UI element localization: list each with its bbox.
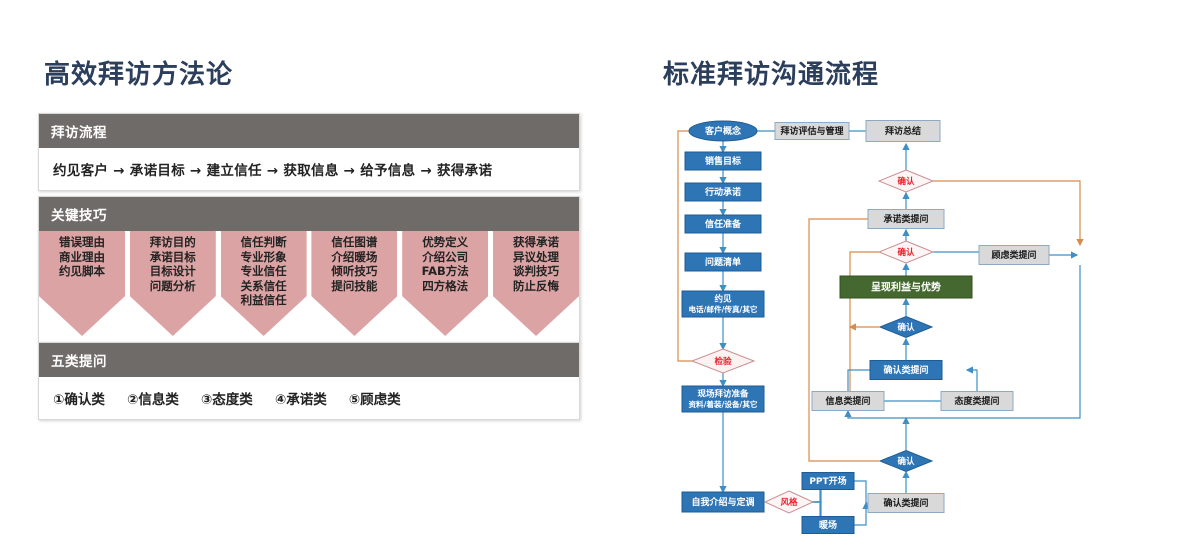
flow-edge [854,503,866,525]
flow-node-sublabel: 资料/着装/设备/其它 [688,399,757,409]
flow-node-label: PPT开场 [809,475,846,487]
key-skill-chevron: 错误理由商业理由约见脚本 [39,231,125,336]
flow-node[interactable]: 确认类提问 [868,494,944,513]
question-type-item: ④承诺类 [275,388,327,408]
key-skill-line: 四方格法 [422,279,468,294]
flow-node[interactable]: 问题清单 [685,253,761,271]
key-skill-chevron: 信任判断专业形象专业信任关系信任利益信任 [221,231,307,336]
key-skills-chevron-row: 错误理由商业理由约见脚本拜访目的承诺目标目标设计问题分析信任判断专业形象专业信任… [39,231,579,341]
visit-process-steps: 约见客户 → 承诺目标 → 建立信任 → 获取信息 → 给予信息 → 获得承诺 [39,148,579,190]
flow-node[interactable]: PPT开场 [802,473,854,490]
methodology-panel: 高效拜访方法论 拜访流程 约见客户 → 承诺目标 → 建立信任 → 获取信息 →… [0,0,620,547]
card-header-key-skills: 关键技巧 [39,197,579,231]
key-skill-line: 商业理由 [59,250,105,265]
flow-node[interactable]: 确认 [880,451,932,472]
question-type-item: ①确认类 [53,388,105,408]
key-skill-line: 专业信任 [241,264,287,279]
flow-node[interactable]: 风格 [765,491,813,513]
flow-node[interactable]: 确认 [879,170,933,192]
key-skill-line: 专业形象 [241,250,287,265]
flow-node-label: 自我介绍与定调 [691,496,754,508]
flow-node[interactable]: 信息类提问 [812,392,884,411]
key-skill-chevron: 拜访目的承诺目标目标设计问题分析 [130,231,216,336]
flow-node-label: 检验 [714,356,732,367]
chevron-separator [216,231,221,341]
card-key-skills: 关键技巧 错误理由商业理由约见脚本拜访目的承诺目标目标设计问题分析信任判断专业形… [38,196,580,343]
flow-node-label: 信任准备 [705,218,742,230]
flow-node-label: 确认 [897,247,915,258]
flow-node-label: 现场拜访准备 [697,389,749,400]
key-skill-line: 谈判技巧 [513,264,559,279]
flow-node-label: 销售目标 [705,155,741,167]
key-skill-line: 利益信任 [241,293,287,308]
flow-node[interactable]: 客户概念 [689,121,757,141]
flow-node[interactable]: 约见电话/邮件/传真/其它 [682,291,764,317]
flow-node-label: 确认 [897,322,915,333]
flow-node-label: 行动承诺 [704,186,741,198]
key-skill-line: 约见脚本 [59,264,105,279]
flow-node-label: 拜访总结 [885,125,921,137]
chevron-separator [488,231,493,341]
five-question-list: ①确认类②信息类③态度类④承诺类⑤顾虑类 [53,388,565,408]
flowchart-panel: 标准拜访沟通流程 客户概念拜访评估与管理拜访总结销售目标行动承诺信任准备问题清单… [620,0,1200,547]
flow-node-label: 顾虑类提问 [991,249,1036,261]
flow-node[interactable]: 承诺类提问 [868,210,944,229]
flow-node-label: 问题清单 [705,256,741,268]
flow-node-label: 暖场 [819,519,837,531]
chevron-separator [307,231,312,341]
chevron-separator [125,231,130,341]
flow-node[interactable]: 销售目标 [685,152,761,170]
key-skill-line: 错误理由 [59,235,105,250]
key-skill-line: 问题分析 [150,279,196,294]
flow-node[interactable]: 确认类提问 [870,361,942,380]
key-skill-line: 异议处理 [513,250,559,265]
key-skill-line: 目标设计 [150,264,196,279]
flow-node-label: 拜访评估与管理 [780,125,843,137]
card-header-visit-process: 拜访流程 [39,114,579,148]
flow-node-label: 约见 [714,294,732,305]
key-skill-line: 介绍暖场 [331,250,377,265]
flow-node[interactable]: 拜访评估与管理 [775,123,849,140]
key-skill-line: 优势定义 [422,235,468,250]
key-skill-line: 承诺目标 [150,250,196,265]
flow-node[interactable]: 现场拜访准备资料/着装/设备/其它 [682,386,764,412]
flow-node-label: 信息类提问 [825,395,870,407]
flow-node[interactable]: 呈现利益与优势 [840,276,972,298]
key-skill-line: 信任图谱 [331,235,377,250]
key-skill-line: 关系信任 [241,279,287,294]
visit-communication-flowchart: 客户概念拜访评估与管理拜访总结销售目标行动承诺信任准备问题清单约见电话/邮件/传… [620,0,1200,547]
card-five-questions: 五类提问 ①确认类②信息类③态度类④承诺类⑤顾虑类 [38,342,580,420]
flow-node-label: 呈现利益与优势 [871,281,941,294]
flow-node-label: 确认类提问 [883,364,928,376]
key-skill-line: 拜访目的 [150,235,196,250]
flow-node[interactable]: 信任准备 [685,215,761,233]
key-skill-line: 介绍公司 [422,250,468,265]
key-skill-chevron: 优势定义介绍公司FAB方法四方格法 [402,231,488,336]
flow-node-label: 承诺类提问 [883,213,928,225]
flow-node[interactable]: 拜访总结 [866,121,940,142]
flow-node-label: 风格 [780,497,798,508]
question-type-item: ②信息类 [127,388,179,408]
flow-edge [809,219,882,461]
key-skill-line: FAB方法 [422,264,469,279]
flow-edge [933,181,1080,245]
flow-node[interactable]: 暖场 [802,517,854,534]
flow-node-label: 确认 [897,456,915,467]
flow-edge [967,370,977,391]
flow-node[interactable]: 自我介绍与定调 [682,492,764,512]
flow-node-label: 确认类提问 [883,497,928,509]
card-header-five-questions: 五类提问 [39,343,579,377]
question-type-item: ③态度类 [201,388,253,408]
key-skill-line: 倾听技巧 [331,264,377,279]
key-skill-line: 获得承诺 [513,235,559,250]
key-skill-line: 防止反悔 [513,279,559,294]
flow-node-label: 确认 [897,176,915,187]
flow-node-label: 客户概念 [704,125,741,137]
key-skill-line: 提问技能 [331,279,377,294]
question-type-item: ⑤顾虑类 [349,388,401,408]
flow-node[interactable]: 确认 [879,241,933,263]
flow-node[interactable]: 顾虑类提问 [979,246,1049,265]
key-skill-chevron: 信任图谱介绍暖场倾听技巧提问技能 [311,231,397,336]
key-skill-line: 信任判断 [241,235,287,250]
flow-node[interactable]: 检验 [692,349,754,373]
flow-node[interactable]: 态度类提问 [941,392,1013,411]
flow-node[interactable]: 确认 [880,317,932,338]
flow-node-label: 态度类提问 [954,395,999,407]
card-visit-process: 拜访流程 约见客户 → 承诺目标 → 建立信任 → 获取信息 → 给予信息 → … [38,113,580,191]
flow-node-sublabel: 电话/邮件/传真/其它 [688,304,757,314]
key-skill-chevron: 获得承诺异议处理谈判技巧防止反悔 [493,231,579,336]
page-title-left: 高效拜访方法论 [44,54,233,91]
chevron-separator [397,231,402,341]
flow-node[interactable]: 行动承诺 [685,183,761,201]
